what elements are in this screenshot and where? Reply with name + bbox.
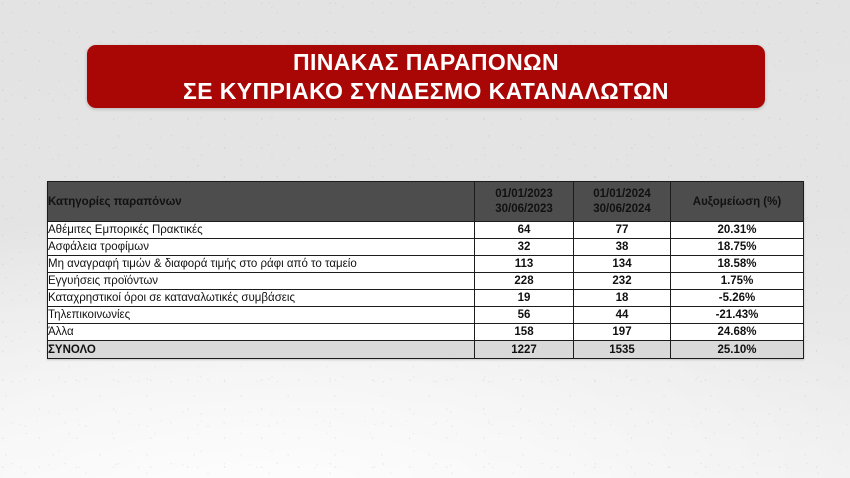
title-line-2: ΣΕ ΚΥΠΡΙΑΚΟ ΣΥΝΔΕΣΜΟ ΚΑΤΑΝΑΛΩΤΩΝ [183,77,669,106]
row-label: Αθέμιτες Εμπορικές Πρακτικές [48,222,475,239]
row-value-change: 18.58% [671,256,804,273]
period-2023-to: 30/06/2023 [475,202,573,217]
row-label: Εγγυήσεις προϊόντων [48,273,475,290]
row-label: Τηλεπικοινωνίες [48,307,475,324]
total-value-2024: 1535 [574,341,671,359]
column-header-period-2023: 01/01/2023 30/06/2023 [475,182,574,222]
title-banner: ΠΙΝΑΚΑΣ ΠΑΡΑΠΟΝΩΝ ΣΕ ΚΥΠΡΙΑΚΟ ΣΥΝΔΕΣΜΟ Κ… [87,45,765,108]
slide-canvas: ΠΙΝΑΚΑΣ ΠΑΡΑΠΟΝΩΝ ΣΕ ΚΥΠΡΙΑΚΟ ΣΥΝΔΕΣΜΟ Κ… [0,0,850,478]
table-row: Αθέμιτες Εμπορικές Πρακτικές 64 77 20.31… [48,222,804,239]
period-2024-to: 30/06/2024 [574,202,670,217]
row-value-2024: 44 [574,307,671,324]
row-label: Άλλα [48,324,475,341]
row-value-2024: 134 [574,256,671,273]
row-label: Καταχρηστικοί όροι σε καταναλωτικές συμβ… [48,290,475,307]
table-body: Αθέμιτες Εμπορικές Πρακτικές 64 77 20.31… [48,222,804,359]
row-label: Μη αναγραφή τιμών & διαφορά τιμής στο ρά… [48,256,475,273]
row-value-2024: 38 [574,239,671,256]
row-value-2024: 18 [574,290,671,307]
table-row: Μη αναγραφή τιμών & διαφορά τιμής στο ρά… [48,256,804,273]
table-total-row: ΣΥΝΟΛΟ 1227 1535 25.10% [48,341,804,359]
row-value-2023: 32 [475,239,574,256]
row-value-2024: 197 [574,324,671,341]
table-row: Εγγυήσεις προϊόντων 228 232 1.75% [48,273,804,290]
table-row: Τηλεπικοινωνίες 56 44 -21.43% [48,307,804,324]
row-value-2023: 113 [475,256,574,273]
row-value-change: 18.75% [671,239,804,256]
row-value-2023: 56 [475,307,574,324]
row-value-2023: 158 [475,324,574,341]
column-header-period-2024: 01/01/2024 30/06/2024 [574,182,671,222]
row-label: Ασφάλεια τροφίμων [48,239,475,256]
table-head: Κατηγορίες παραπόνων 01/01/2023 30/06/20… [48,182,804,222]
period-2024-from: 01/01/2024 [574,187,670,202]
row-value-2023: 64 [475,222,574,239]
table-row: Καταχρηστικοί όροι σε καταναλωτικές συμβ… [48,290,804,307]
row-value-change: -21.43% [671,307,804,324]
row-value-change: 1.75% [671,273,804,290]
row-value-2023: 19 [475,290,574,307]
period-2023-from: 01/01/2023 [475,187,573,202]
row-value-2024: 77 [574,222,671,239]
row-value-change: 24.68% [671,324,804,341]
title-line-1: ΠΙΝΑΚΑΣ ΠΑΡΑΠΟΝΩΝ [293,48,559,77]
column-header-change: Αυξομείωση (%) [671,182,804,222]
total-label: ΣΥΝΟΛΟ [48,341,475,359]
complaints-table: Κατηγορίες παραπόνων 01/01/2023 30/06/20… [47,181,804,359]
row-value-change: 20.31% [671,222,804,239]
column-header-category: Κατηγορίες παραπόνων [48,182,475,222]
table-header-row: Κατηγορίες παραπόνων 01/01/2023 30/06/20… [48,182,804,222]
total-value-change: 25.10% [671,341,804,359]
row-value-2024: 232 [574,273,671,290]
row-value-2023: 228 [475,273,574,290]
table-row: Ασφάλεια τροφίμων 32 38 18.75% [48,239,804,256]
table-row: Άλλα 158 197 24.68% [48,324,804,341]
row-value-change: -5.26% [671,290,804,307]
total-value-2023: 1227 [475,341,574,359]
